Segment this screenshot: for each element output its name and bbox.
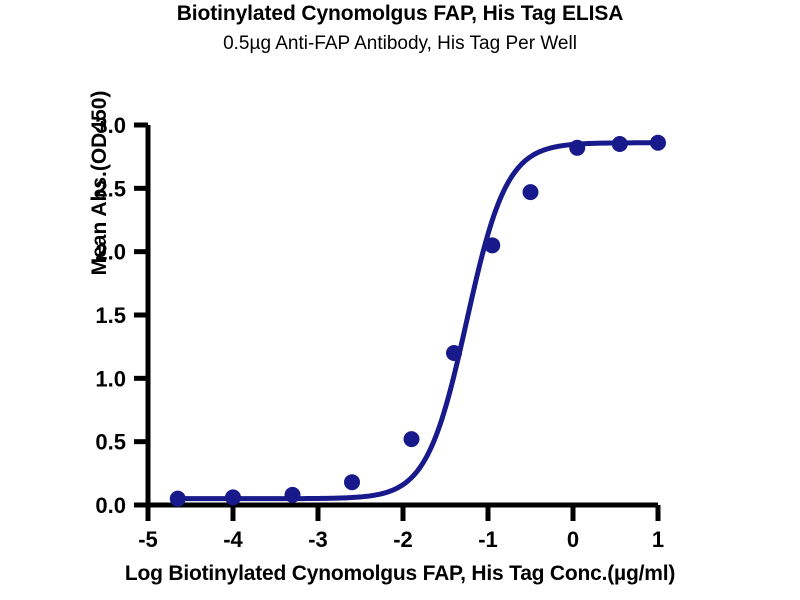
data-point — [344, 474, 360, 490]
data-point — [285, 487, 301, 503]
x-tick-label: 1 — [652, 527, 664, 552]
data-point — [484, 237, 500, 253]
x-tick-label: -3 — [308, 527, 328, 552]
y-tick-label: 2.0 — [95, 240, 126, 265]
data-point — [170, 491, 186, 507]
y-tick-label: 2.5 — [95, 176, 126, 201]
plot-area: 0.00.51.01.52.02.53.0 -5-4-3-2-101 — [0, 0, 800, 600]
x-tick-group: -5-4-3-2-101 — [138, 505, 664, 552]
data-point — [569, 140, 585, 156]
series-data-points — [170, 135, 666, 507]
y-tick-label: 3.0 — [95, 113, 126, 138]
elisa-chart-figure: Biotinylated Cynomolgus FAP, His Tag ELI… — [0, 0, 800, 600]
data-point — [446, 345, 462, 361]
x-tick-label: -1 — [478, 527, 498, 552]
x-tick-label: 0 — [567, 527, 579, 552]
data-point — [225, 489, 241, 505]
y-tick-label: 1.5 — [95, 303, 126, 328]
data-point — [612, 136, 628, 152]
data-point — [650, 135, 666, 151]
y-tick-label: 1.0 — [95, 366, 126, 391]
x-tick-label: -5 — [138, 527, 158, 552]
y-tick-group: 0.00.51.01.52.02.53.0 — [95, 113, 148, 518]
data-point — [404, 431, 420, 447]
x-tick-label: -4 — [223, 527, 243, 552]
series-fit-curve — [178, 143, 658, 499]
y-tick-label: 0.0 — [95, 493, 126, 518]
data-point — [523, 184, 539, 200]
y-tick-label: 0.5 — [95, 430, 126, 455]
x-tick-label: -2 — [393, 527, 413, 552]
